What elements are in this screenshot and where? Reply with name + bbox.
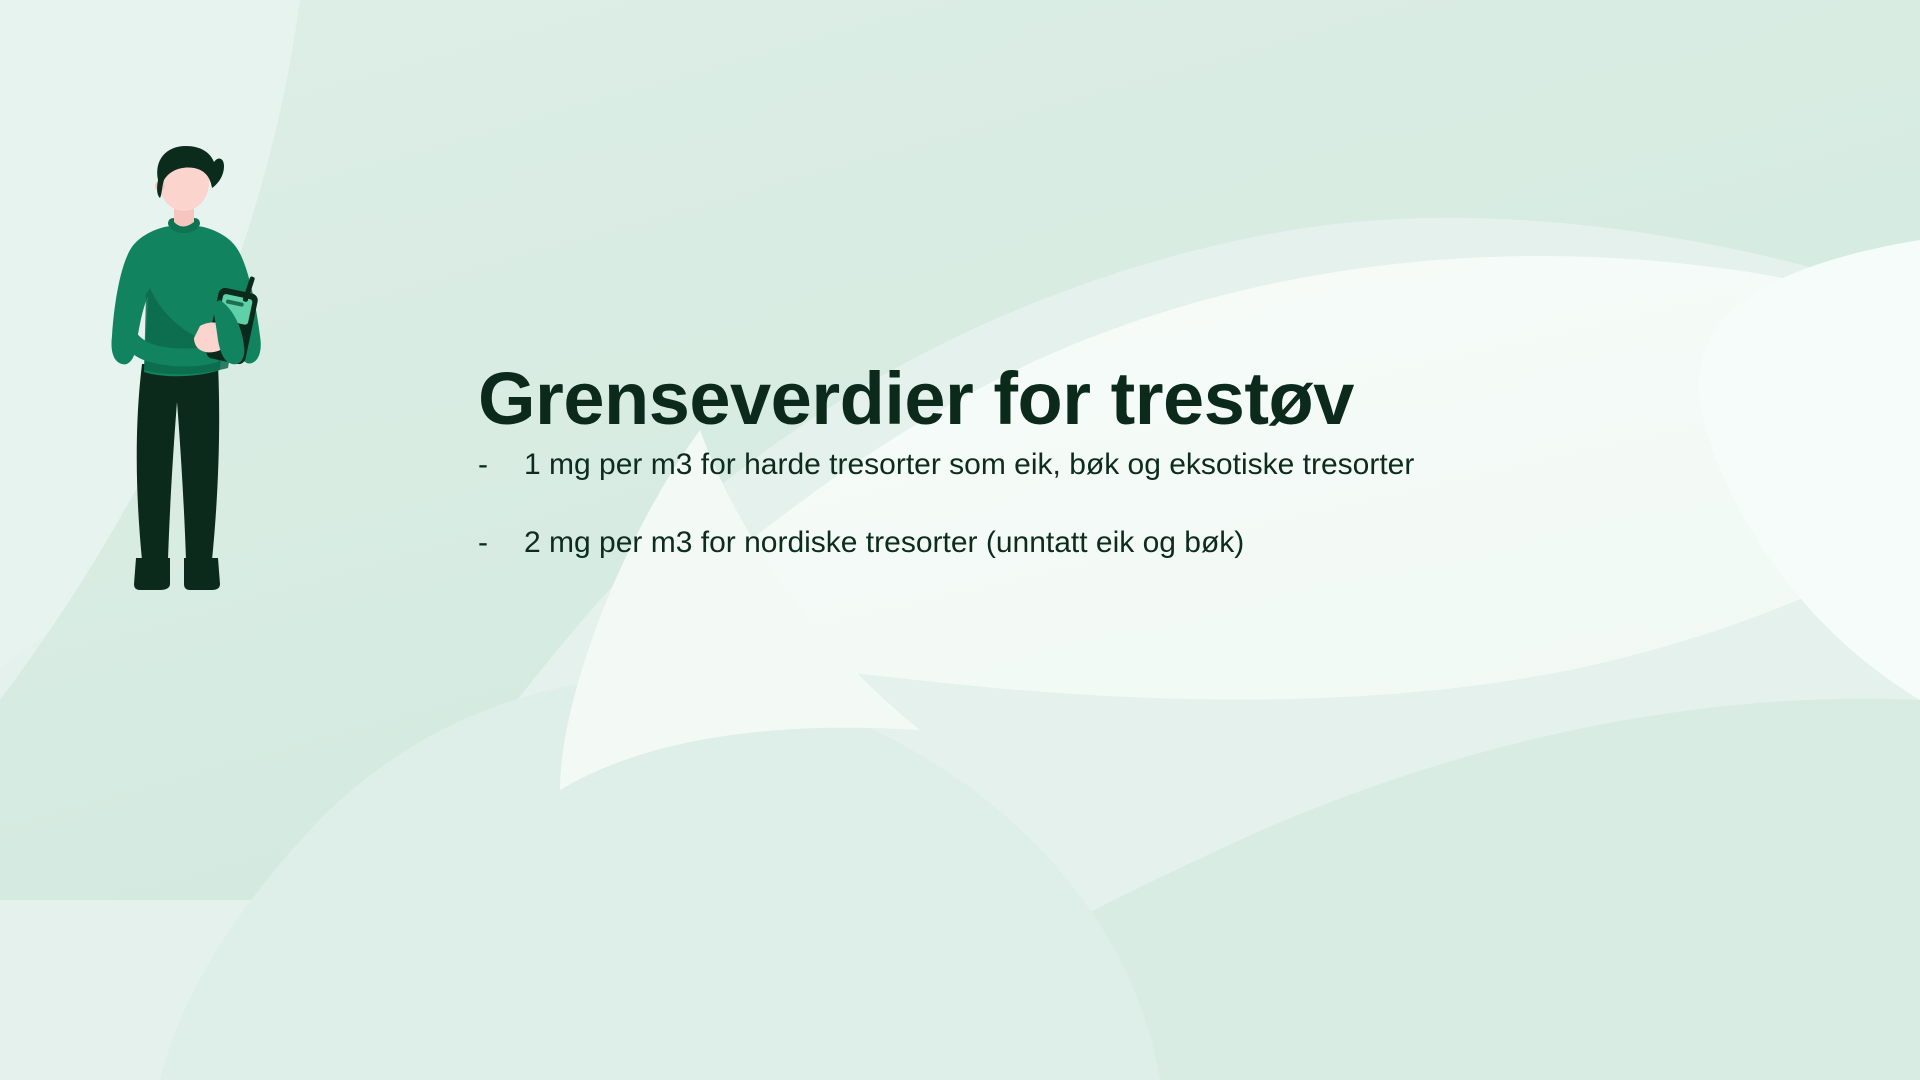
bullet-text: 1 mg per m3 for harde tresorter som eik,… [524,446,1778,484]
person-holding-dust-meter-illustration [100,140,350,610]
bullet-list: - 1 mg per m3 for harde tresorter som ei… [478,446,1778,601]
list-item: - 2 mg per m3 for nordiske tresorter (un… [478,524,1778,562]
list-item: - 1 mg per m3 for harde tresorter som ei… [478,446,1778,484]
shoe-left [134,558,170,590]
slide-content: Grenseverdier for trestøv - 1 mg per m3 … [0,0,1920,1080]
slide-canvas: Grenseverdier for trestøv - 1 mg per m3 … [0,0,1920,1080]
page-title: Grenseverdier for trestøv [478,360,1738,438]
trousers [137,364,219,560]
bullet-text: 2 mg per m3 for nordiske tresorter (unnt… [524,524,1778,562]
bullet-marker-icon: - [478,524,524,562]
bullet-marker-icon: - [478,446,524,484]
shoe-right [184,558,220,590]
